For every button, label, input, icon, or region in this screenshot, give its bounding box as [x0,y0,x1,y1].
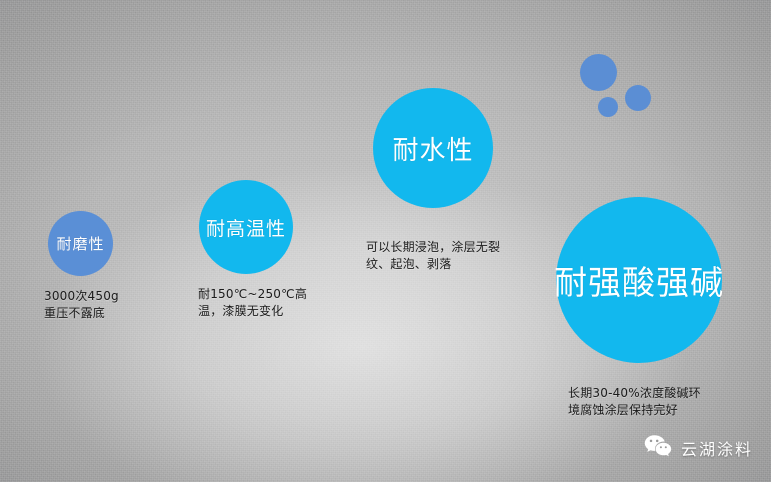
feature-circle-strong-acid-alkali-resistance[interactable]: 耐强酸强碱 [556,197,722,363]
feature-caption-wear-resistance: 3000次450g 重压不露底 [44,288,184,322]
feature-label-water-resistance: 耐水性 [392,130,473,167]
feature-label-wear-resistance: 耐磨性 [56,233,104,254]
feature-circle-high-temperature-resistance[interactable]: 耐高温性 [199,180,293,274]
feature-caption-strong-acid-alkali-resistance: 长期30-40%浓度酸碱环 境腐蚀涂层保持完好 [568,385,758,419]
deco-bubble-large [580,54,617,91]
feature-circle-wear-resistance[interactable]: 耐磨性 [48,211,113,276]
wechat-account-name: 云湖涂料 [681,436,753,460]
feature-label-high-temperature-resistance: 耐高温性 [206,214,286,241]
feature-label-strong-acid-alkali-resistance: 耐强酸强碱 [554,256,724,304]
wechat-icon [644,434,672,462]
deco-bubble-medium [625,85,651,111]
feature-caption-water-resistance: 可以长期浸泡，涂层无裂 纹、起泡、剥落 [366,239,556,273]
feature-circle-water-resistance[interactable]: 耐水性 [373,88,493,208]
slide-canvas: 耐磨性 3000次450g 重压不露底 耐高温性 耐150℃~250℃高 温，漆… [0,0,771,482]
deco-bubble-small [598,97,618,117]
feature-caption-high-temperature-resistance: 耐150℃~250℃高 温，漆膜无变化 [198,286,348,320]
footer-watermark: 云湖涂料 [644,434,753,462]
